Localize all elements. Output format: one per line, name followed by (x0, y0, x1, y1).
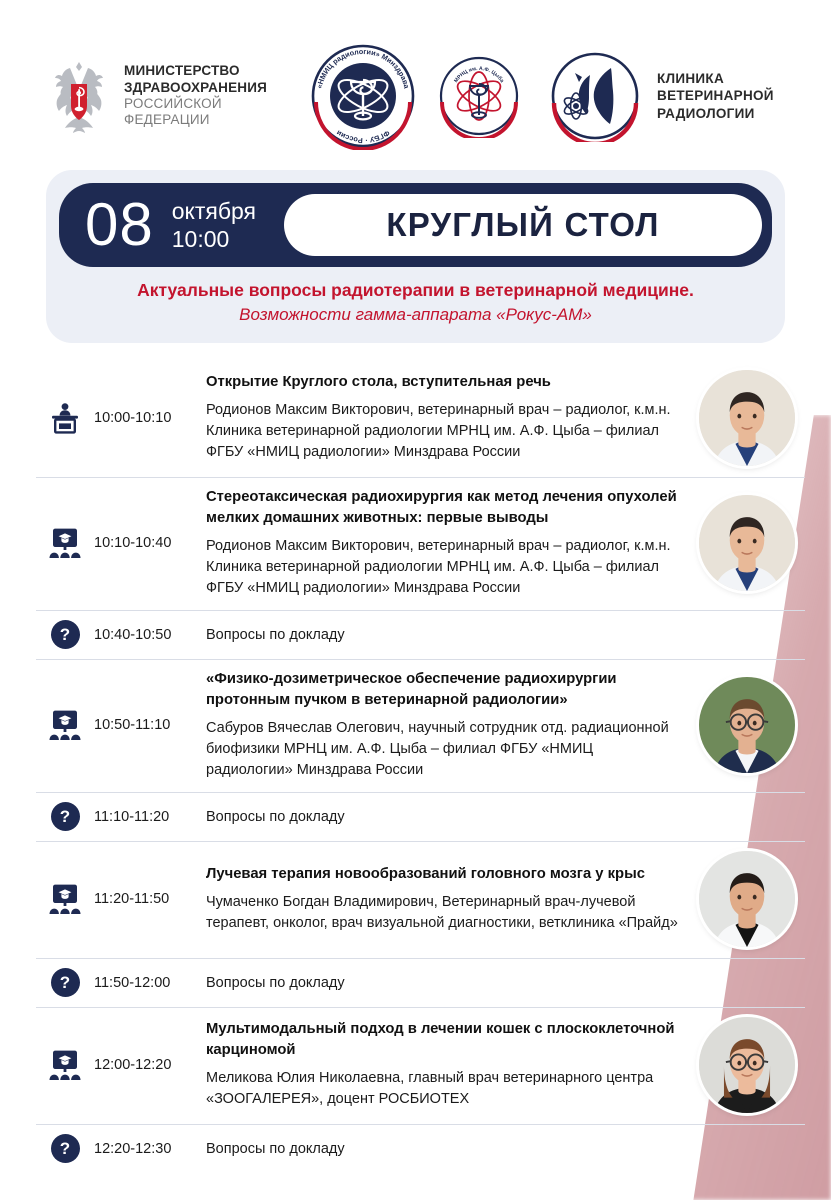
portrait-chumachenko (699, 851, 795, 947)
talk-title: Стереотаксическая радиохирургия как мето… (206, 487, 679, 529)
qa-label: Вопросы по докладу (206, 809, 679, 825)
schedule-row-qa: ?11:50-12:00Вопросы по докладу (36, 959, 805, 1008)
row-time: 10:40-10:50 (94, 618, 206, 652)
question-mark-icon: ? (51, 620, 80, 649)
clinic-name-text: КЛИНИКА ВЕТЕРИНАРНОЙ РАДИОЛОГИИ (657, 70, 774, 123)
date-details: октября 10:00 (172, 197, 256, 253)
row-body: Вопросы по докладу (206, 1132, 689, 1166)
row-icon-cell (36, 851, 94, 947)
russian-double-headed-eagle-emblem (48, 59, 110, 133)
lecture-presentation-icon (48, 1049, 82, 1081)
logo-bar: МИНИСТЕРСТВО ЗДРАВООХРАНЕНИЯ РОССИЙСКОЙ … (0, 0, 831, 150)
schedule-row-talk: 12:00-12:20Мультимодальный подход в лече… (36, 1008, 805, 1125)
row-time: 10:00-10:10 (94, 370, 206, 466)
event-title-panel: 08 октября 10:00 КРУГЛЫЙ СТОЛ Актуальные… (46, 170, 785, 343)
date-banner: 08 октября 10:00 КРУГЛЫЙ СТОЛ (59, 183, 772, 267)
talk-speaker: Родионов Максим Викторович, ветеринарный… (206, 536, 679, 599)
row-body: «Физико-дозиметрическое обеспечение ради… (206, 669, 689, 781)
row-time: 11:10-11:20 (94, 800, 206, 834)
row-body: Лучевая терапия новообразований головног… (206, 851, 689, 947)
schedule-row-talk: 10:10-10:40Стереотаксическая радиохирург… (36, 478, 805, 611)
row-time: 10:50-11:10 (94, 669, 206, 781)
talk-title: «Физико-дозиметрическое обеспечение ради… (206, 669, 679, 711)
talk-title: Лучевая терапия новообразований головног… (206, 864, 679, 885)
row-photo-cell (689, 1017, 805, 1113)
row-body: Вопросы по докладу (206, 966, 689, 1000)
question-mark-icon: ? (51, 968, 80, 997)
row-body: Мультимодальный подход в лечении кошек с… (206, 1017, 689, 1113)
schedule-row-talk: 11:20-11:50Лучевая терапия новообразован… (36, 842, 805, 959)
podium-speaker-icon (50, 402, 80, 434)
cat-dog-atom-emblem (549, 50, 641, 142)
speaker-avatar (699, 851, 795, 947)
event-day: 08 (85, 195, 154, 255)
speaker-avatar (699, 495, 795, 591)
row-time: 12:20-12:30 (94, 1132, 206, 1166)
schedule-row-qa: ?10:40-10:50Вопросы по докладу (36, 611, 805, 660)
portrait-rodionov (699, 370, 795, 466)
mrnc-tsyb-emblem: МРНЦ им. А.Ф. Цыба (437, 54, 521, 138)
row-icon-cell (36, 487, 94, 599)
nmic-radiology-emblem: «НМИЦ радиологии» Минздрава ФГБУ · Росси… (309, 42, 417, 150)
speaker-avatar (699, 677, 795, 773)
schedule-row-qa: ?11:10-11:20Вопросы по докладу (36, 793, 805, 842)
talk-speaker: Сабуров Вячеслав Олегович, научный сотру… (206, 718, 679, 781)
row-photo-cell (689, 800, 805, 834)
speaker-avatar (699, 370, 795, 466)
schedule-list: 10:00-10:10Открытие Круглого стола, всту… (0, 361, 831, 1173)
row-icon-cell (36, 370, 94, 466)
row-time: 11:50-12:00 (94, 966, 206, 1000)
portrait-saburov (699, 677, 795, 773)
row-photo-cell (689, 370, 805, 466)
talk-speaker: Чумаченко Богдан Владимирович, Ветеринар… (206, 892, 679, 934)
row-icon-cell (36, 1017, 94, 1113)
row-photo-cell (689, 618, 805, 652)
row-photo-cell (689, 1132, 805, 1166)
talk-speaker: Меликова Юлия Николаевна, главный врач в… (206, 1068, 679, 1110)
subtitle-sub: Возможности гамма-аппарата «Рокус-АМ» (65, 304, 766, 327)
row-body: Вопросы по докладу (206, 618, 689, 652)
ministry-line-3: РОССИЙСКОЙ (124, 96, 267, 112)
row-body: Вопросы по докладу (206, 800, 689, 834)
lecture-presentation-icon (48, 709, 82, 741)
lecture-presentation-icon (48, 883, 82, 915)
speaker-avatar (699, 1017, 795, 1113)
row-time: 11:20-11:50 (94, 851, 206, 947)
row-icon-cell: ? (36, 800, 94, 834)
event-subtitle: Актуальные вопросы радиотерапии в ветери… (59, 267, 772, 329)
row-photo-cell (689, 669, 805, 781)
row-photo-cell (689, 966, 805, 1000)
qa-label: Вопросы по докладу (206, 975, 679, 991)
lecture-presentation-icon (48, 527, 82, 559)
row-icon-cell: ? (36, 1132, 94, 1166)
subtitle-main: Актуальные вопросы радиотерапии в ветери… (65, 279, 766, 302)
ministry-name-text: МИНИСТЕРСТВО ЗДРАВООХРАНЕНИЯ РОССИЙСКОЙ … (124, 63, 267, 129)
row-body: Стереотаксическая радиохирургия как мето… (206, 487, 689, 599)
qa-label: Вопросы по докладу (206, 627, 679, 643)
qa-label: Вопросы по докладу (206, 1141, 679, 1157)
schedule-row-qa: ?12:20-12:30Вопросы по докладу (36, 1125, 805, 1173)
question-mark-icon: ? (51, 1134, 80, 1163)
row-photo-cell (689, 487, 805, 599)
talk-title: Открытие Круглого стола, вступительная р… (206, 372, 679, 393)
row-icon-cell: ? (36, 618, 94, 652)
row-photo-cell (689, 851, 805, 947)
clinic-line-1: КЛИНИКА (657, 70, 774, 88)
ministry-line-2: ЗДРАВООХРАНЕНИЯ (124, 80, 267, 96)
institute-logos: «НМИЦ радиологии» Минздрава ФГБУ · Росси… (309, 42, 521, 150)
event-type-pill: КРУГЛЫЙ СТОЛ (284, 194, 762, 256)
clinic-line-2: ВЕТЕРИНАРНОЙ (657, 87, 774, 105)
question-mark-icon: ? (51, 802, 80, 831)
talk-title: Мультимодальный подход в лечении кошек с… (206, 1019, 679, 1061)
ministry-line-4: ФЕДЕРАЦИИ (124, 112, 267, 128)
talk-speaker: Родионов Максим Викторович, ветеринарный… (206, 400, 679, 463)
portrait-melikova (699, 1017, 795, 1113)
row-time: 10:10-10:40 (94, 487, 206, 599)
event-type-label: КРУГЛЫЙ СТОЛ (386, 206, 659, 244)
event-month: октября (172, 197, 256, 225)
ministry-of-health-logo: МИНИСТЕРСТВО ЗДРАВООХРАНЕНИЯ РОССИЙСКОЙ … (48, 59, 267, 133)
row-time: 12:00-12:20 (94, 1017, 206, 1113)
row-icon-cell: ? (36, 966, 94, 1000)
veterinary-radiology-clinic-logo: КЛИНИКА ВЕТЕРИНАРНОЙ РАДИОЛОГИИ (549, 50, 774, 142)
row-body: Открытие Круглого стола, вступительная р… (206, 370, 689, 466)
ministry-line-1: МИНИСТЕРСТВО (124, 63, 267, 79)
schedule-row-talk: 10:50-11:10«Физико-дозиметрическое обесп… (36, 660, 805, 793)
row-icon-cell (36, 669, 94, 781)
clinic-line-3: РАДИОЛОГИИ (657, 105, 774, 123)
portrait-rodionov (699, 495, 795, 591)
event-time: 10:00 (172, 225, 256, 253)
schedule-row-talk: 10:00-10:10Открытие Круглого стола, всту… (36, 361, 805, 478)
